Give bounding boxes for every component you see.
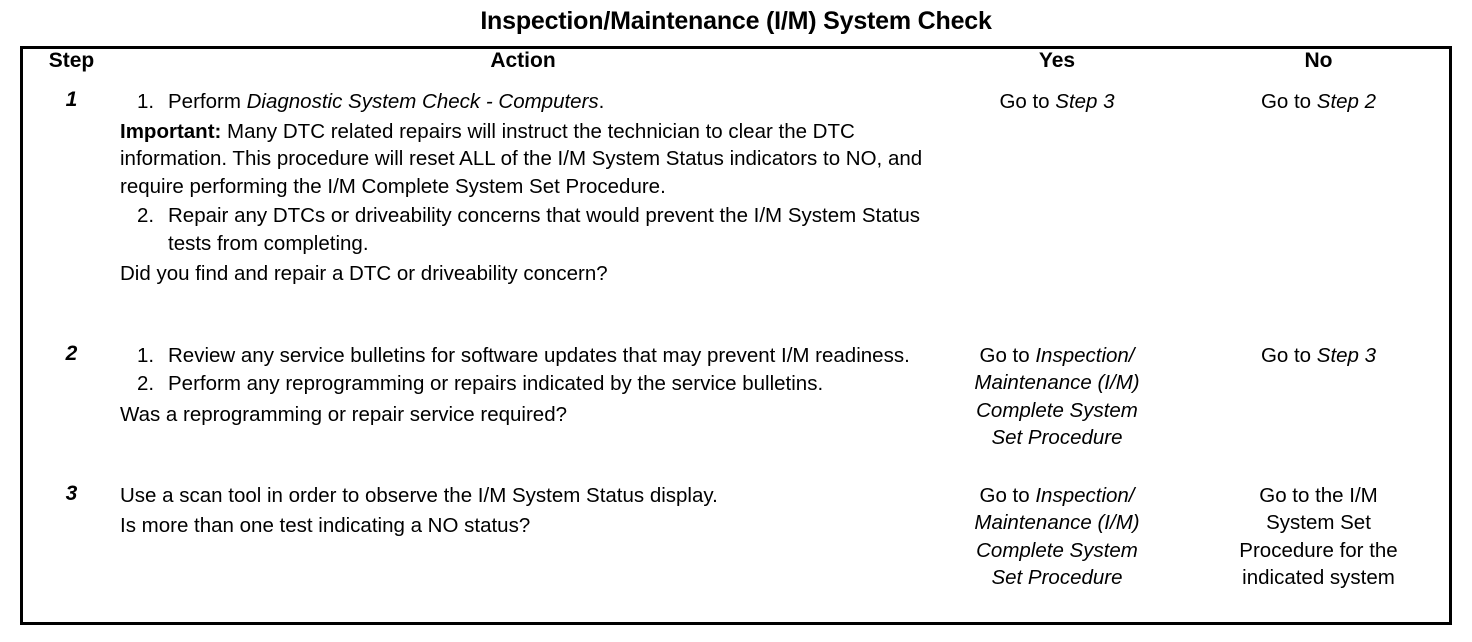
answer-reference: Set Procedure bbox=[926, 424, 1188, 452]
table-row: 2 1.Review any service bulletins for sof… bbox=[23, 342, 1449, 482]
answer-line: Go to Inspection/ bbox=[926, 482, 1188, 510]
list-item-text-prefix: Perform bbox=[168, 90, 247, 113]
answer-reference: Set Procedure bbox=[926, 564, 1188, 592]
page-title: Inspection/Maintenance (I/M) System Chec… bbox=[0, 6, 1472, 36]
answer-reference: Step 3 bbox=[1317, 344, 1376, 367]
decision-question: Was a reprogramming or repair service re… bbox=[120, 401, 926, 429]
important-label: Important: bbox=[120, 120, 221, 143]
action-cell-step-1: 1.Perform Diagnostic System Check - Comp… bbox=[120, 88, 926, 342]
answer-line: Go to Inspection/ bbox=[926, 342, 1188, 370]
action-list-item: 1.Perform Diagnostic System Check - Comp… bbox=[120, 88, 926, 116]
answer-reference: Maintenance (I/M) bbox=[926, 369, 1188, 397]
answer-reference: Maintenance (I/M) bbox=[926, 509, 1188, 537]
answer-reference: Step 3 bbox=[1055, 90, 1114, 113]
column-header-yes: Yes bbox=[926, 49, 1188, 88]
no-cell-step-3: Go to the I/M System Set Procedure for t… bbox=[1188, 482, 1449, 622]
answer-reference: Step 2 bbox=[1317, 90, 1376, 113]
answer-prefix: Go to bbox=[980, 344, 1036, 367]
answer-reference: Complete System bbox=[926, 397, 1188, 425]
step-number-1: 1 bbox=[23, 88, 120, 342]
answer-prefix: Go to bbox=[980, 484, 1036, 507]
decision-question: Did you find and repair a DTC or driveab… bbox=[120, 260, 926, 288]
list-marker: 2. bbox=[137, 370, 163, 398]
answer-reference: Complete System bbox=[926, 537, 1188, 565]
action-instruction: Use a scan tool in order to observe the … bbox=[120, 482, 926, 510]
step-number-3: 3 bbox=[23, 482, 120, 622]
list-marker: 2. bbox=[137, 202, 163, 230]
answer-reference: System Set bbox=[1188, 509, 1449, 537]
procedure-reference-link: Diagnostic System Check - Computers bbox=[247, 90, 599, 113]
action-cell-step-3: Use a scan tool in order to observe the … bbox=[120, 482, 926, 622]
no-cell-step-1: Go to Step 2 bbox=[1188, 88, 1449, 342]
procedure-table: Step Action Yes No 1 1.Perform Diagnosti… bbox=[23, 49, 1449, 622]
answer-reference: Inspection/ bbox=[1035, 344, 1134, 367]
action-list-item: 2.Repair any DTCs or driveability concer… bbox=[120, 202, 926, 257]
document-page: Inspection/Maintenance (I/M) System Chec… bbox=[0, 0, 1472, 642]
answer-prefix: Go to bbox=[999, 90, 1055, 113]
answer-prefix: Go to bbox=[1261, 90, 1317, 113]
list-item-text: Repair any DTCs or driveability concerns… bbox=[168, 204, 920, 255]
no-cell-step-2: Go to Step 3 bbox=[1188, 342, 1449, 482]
important-body: Many DTC related repairs will instruct t… bbox=[120, 120, 922, 198]
list-item-text: Review any service bulletins for softwar… bbox=[168, 344, 910, 367]
answer-reference: indicated system bbox=[1188, 564, 1449, 592]
action-cell-step-2: 1.Review any service bulletins for softw… bbox=[120, 342, 926, 482]
yes-cell-step-2: Go to Inspection/ Maintenance (I/M) Comp… bbox=[926, 342, 1188, 482]
list-marker: 1. bbox=[137, 342, 163, 370]
decision-question: Is more than one test indicating a NO st… bbox=[120, 512, 926, 540]
yes-cell-step-3: Go to Inspection/ Maintenance (I/M) Comp… bbox=[926, 482, 1188, 622]
list-item-text-suffix: . bbox=[599, 90, 605, 113]
answer-reference: Procedure for the bbox=[1188, 537, 1449, 565]
list-item-text: Perform any reprogramming or repairs ind… bbox=[168, 372, 823, 395]
list-marker: 1. bbox=[137, 88, 163, 116]
action-list-item: 2.Perform any reprogramming or repairs i… bbox=[120, 370, 926, 398]
procedure-table-container: Step Action Yes No 1 1.Perform Diagnosti… bbox=[20, 46, 1452, 625]
yes-cell-step-1: Go to Step 3 bbox=[926, 88, 1188, 342]
column-header-action: Action bbox=[120, 49, 926, 88]
table-header-row: Step Action Yes No bbox=[23, 49, 1449, 88]
table-row: 3 Use a scan tool in order to observe th… bbox=[23, 482, 1449, 622]
answer-prefix: Go to bbox=[1261, 344, 1317, 367]
answer-reference: Inspection/ bbox=[1035, 484, 1134, 507]
step-number-2: 2 bbox=[23, 342, 120, 482]
important-note: Important: Many DTC related repairs will… bbox=[120, 118, 926, 201]
column-header-no: No bbox=[1188, 49, 1449, 88]
table-row: 1 1.Perform Diagnostic System Check - Co… bbox=[23, 88, 1449, 342]
action-list-item: 1.Review any service bulletins for softw… bbox=[120, 342, 926, 370]
column-header-step: Step bbox=[23, 49, 120, 88]
answer-reference: Go to the I/M bbox=[1188, 482, 1449, 510]
